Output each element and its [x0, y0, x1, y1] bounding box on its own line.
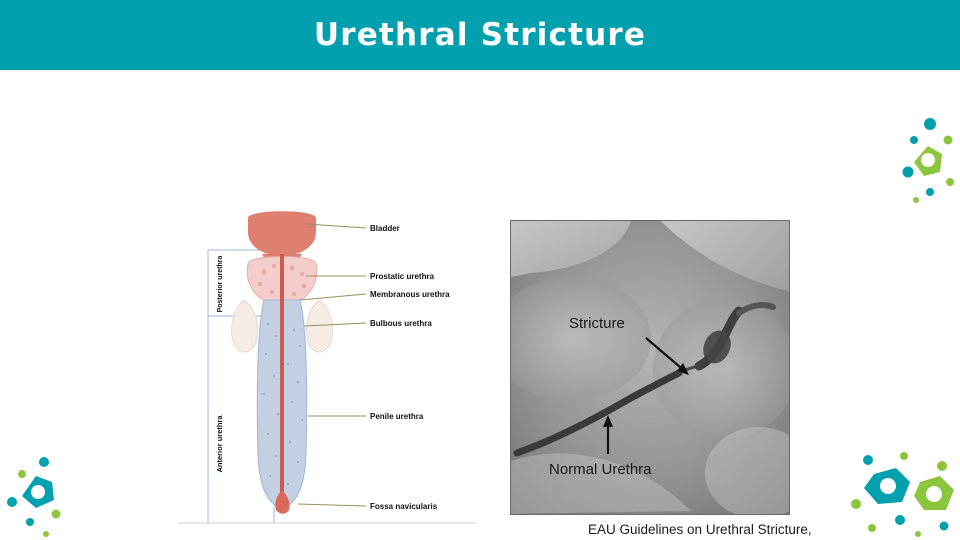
source-caption: EAU Guidelines on Urethral Stricture, — [588, 522, 812, 537]
bladder-shape — [248, 211, 316, 256]
annotation-stricture: Stricture — [569, 315, 625, 332]
bracket-label-anterior: Anterior urethra — [215, 415, 224, 473]
page-title: Urethral Stricture — [0, 0, 960, 70]
callout-bulbous-urethra: Bulbous urethra — [370, 319, 432, 328]
decorative-molecule-bottom-left — [0, 450, 70, 540]
decorative-molecule-bottom-right — [848, 448, 960, 540]
urethrogram-image: Stricture Normal Urethra — [510, 220, 790, 515]
bracket-label-posterior: Posterior urethra — [217, 255, 224, 312]
callout-penile-urethra: Penile urethra — [370, 412, 424, 421]
callout-fossa-navicularis: Fossa navicularis — [370, 502, 438, 511]
anatomy-diagram: Posterior urethra Anterior urethra Bladd… — [176, 204, 476, 529]
slide-canvas: Urethral Stricture — [0, 0, 960, 540]
callout-bladder: Bladder — [370, 224, 400, 233]
callout-prostatic-urethra: Prostatic urethra — [370, 272, 435, 281]
callout-membranous-urethra: Membranous urethra — [370, 290, 450, 299]
annotation-normal-urethra: Normal Urethra — [549, 461, 652, 478]
decorative-molecule-top-right — [890, 110, 960, 210]
